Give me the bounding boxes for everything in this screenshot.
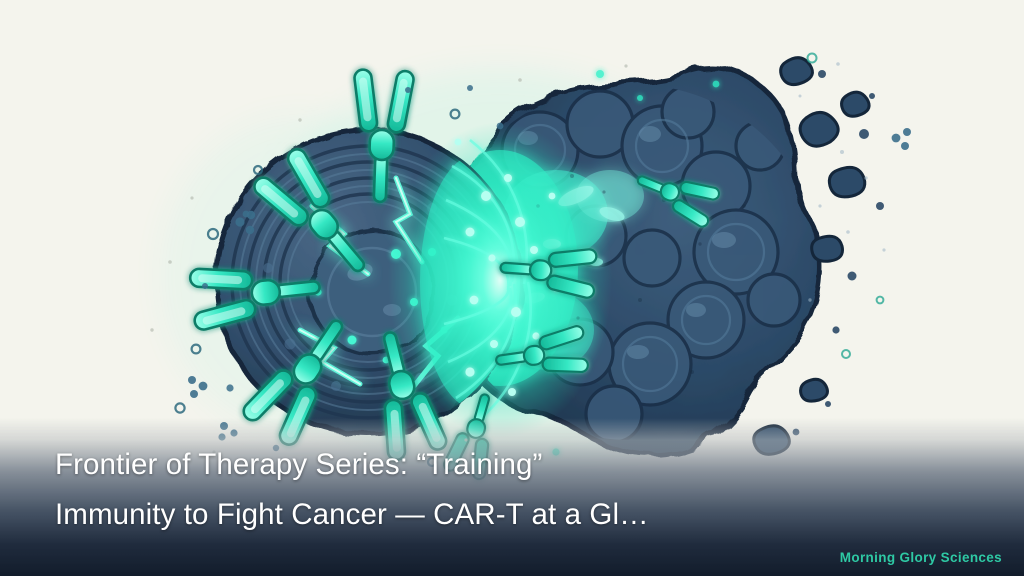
caption-block: Frontier of Therapy Series: “Training” I…: [55, 440, 935, 540]
caption-line-2: Immunity to Fight Cancer — CAR-T at a Gl…: [55, 490, 935, 540]
watermark-label: Morning Glory Sciences: [840, 550, 1002, 565]
immunological-synapse: [388, 122, 612, 438]
slide-canvas: Frontier of Therapy Series: “Training” I…: [0, 0, 1024, 576]
caption-line-1: Frontier of Therapy Series: “Training”: [55, 440, 935, 490]
